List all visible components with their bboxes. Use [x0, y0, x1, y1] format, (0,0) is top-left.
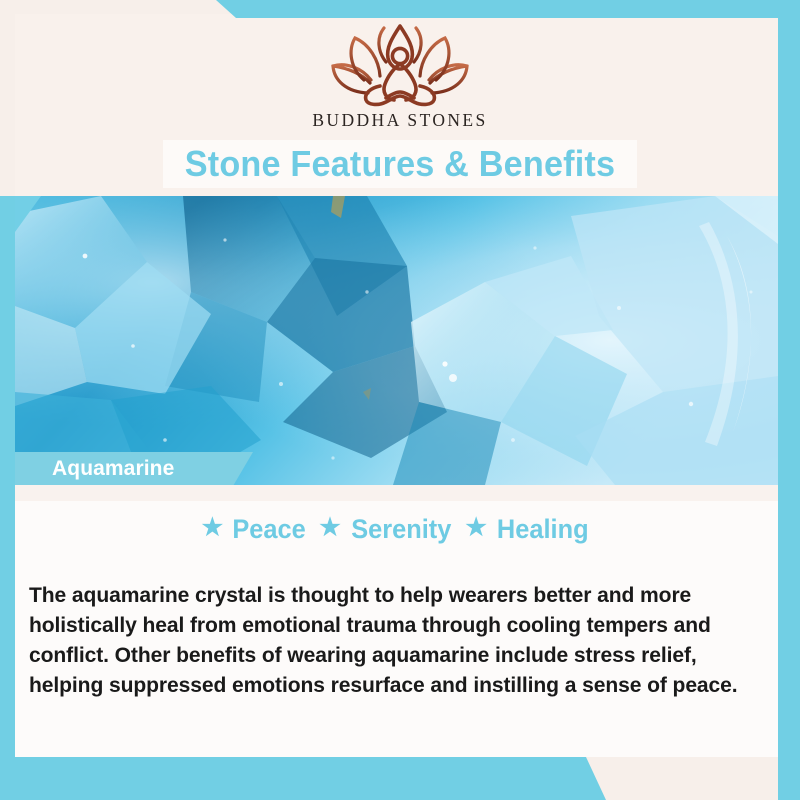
keyword-list: ★ Peace ★ Serenity ★ Healing — [15, 512, 778, 546]
keyword-label: Peace — [232, 512, 305, 546]
star-icon: ★ — [465, 516, 487, 540]
frame-strip-left — [0, 196, 15, 800]
frame-strip-bottom — [0, 757, 800, 800]
frame-strip-right — [778, 0, 800, 800]
star-icon: ★ — [202, 516, 224, 540]
page-title: Stone Features & Benefits — [20, 140, 780, 188]
star-icon: ★ — [319, 516, 341, 540]
crystal-photo-art — [15, 196, 778, 485]
aquamarine-crystal-photo — [15, 196, 778, 485]
keyword-label: Serenity — [351, 512, 451, 546]
keyword-item-serenity: ★ Serenity — [319, 512, 454, 546]
keyword-item-healing: ★ Healing — [465, 512, 591, 546]
brand-name: BUDDHA STONES — [0, 110, 800, 131]
stone-name-label: Aquamarine — [52, 452, 174, 486]
keyword-label: Healing — [497, 512, 589, 546]
keyword-item-peace: ★ Peace — [202, 512, 309, 546]
stone-description: The aquamarine crystal is thought to hel… — [29, 580, 748, 700]
content-panel-tint — [15, 485, 778, 501]
lotus-meditation-figure-icon — [324, 22, 476, 108]
stone-info-poster: BUDDHA STONES Stone Features & Benefits — [0, 0, 800, 800]
brand-logo-block: BUDDHA STONES — [0, 22, 800, 131]
